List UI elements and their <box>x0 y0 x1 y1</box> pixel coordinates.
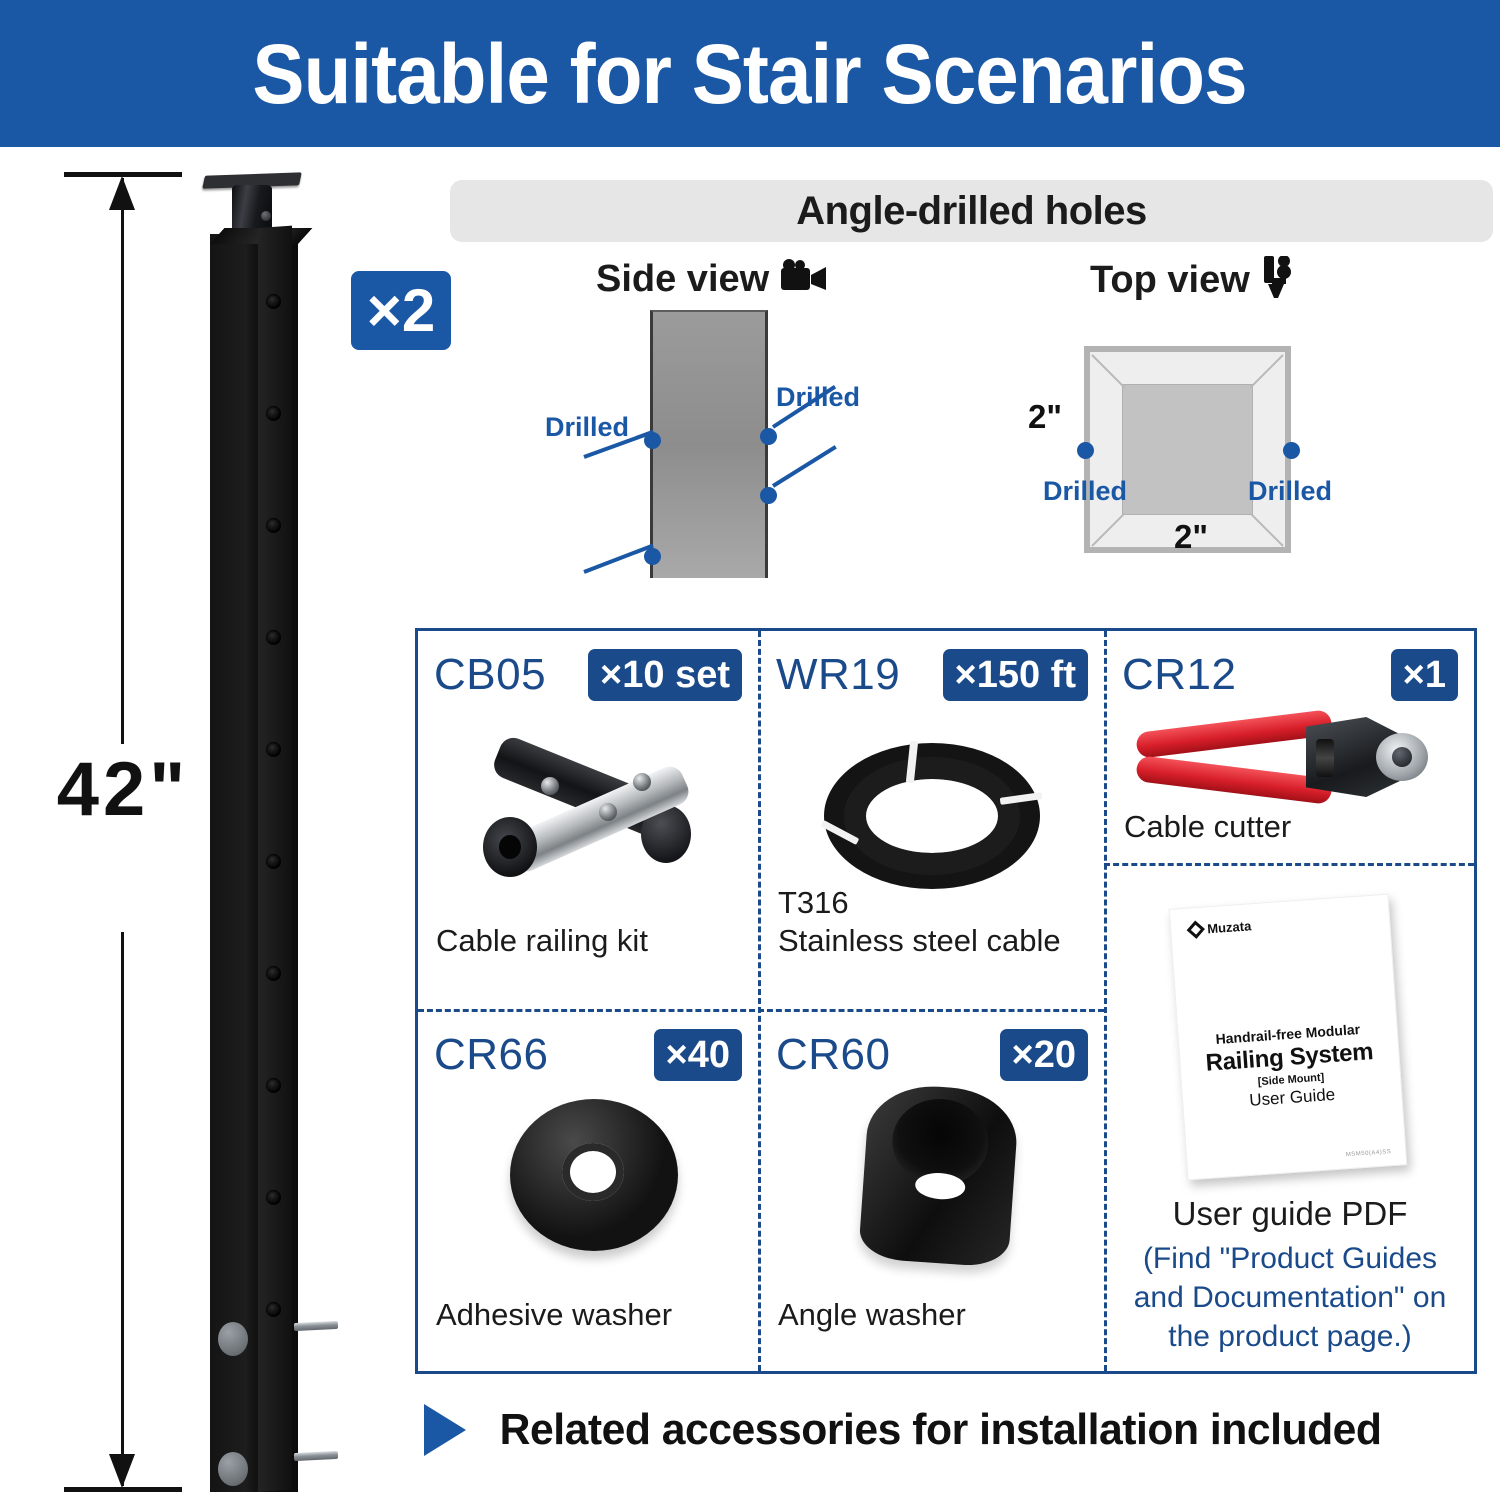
angle-drilled-holes-title: Angle-drilled holes <box>796 189 1147 234</box>
side-view-label: Side view <box>596 258 769 301</box>
user-guide-note: (Find "Product Guides and Documentation"… <box>1106 1239 1474 1356</box>
post-hole <box>266 406 281 421</box>
side-view-label-group: Side view <box>596 258 827 301</box>
swivel-bolt-icon <box>261 211 271 221</box>
drilled-callout: Drilled <box>545 412 629 443</box>
top-view-dimension-horizontal: 2" <box>1174 518 1208 556</box>
accessories-grid: CB05 ×10 set Cable railing kit WR19 ×150… <box>415 628 1477 1374</box>
qty-badge-cr60: ×20 <box>1000 1029 1088 1081</box>
dimension-arrow-down-icon <box>109 1454 135 1488</box>
post-mount-pad <box>218 1452 248 1486</box>
accessory-cell-cb05: CB05 ×10 set Cable railing kit <box>418 631 758 1009</box>
cable-cutter-icon <box>1130 701 1450 821</box>
accessory-cell-wr19: WR19 ×150 ft T316 Stainless steel cable <box>760 631 1104 1009</box>
cable-coil-icon <box>824 743 1040 893</box>
caption-user-guide: User guide PDF <box>1106 1195 1474 1233</box>
hex-socket-icon <box>633 773 651 791</box>
part-code-cr60: CR60 <box>776 1030 891 1080</box>
qty-badge-wr19: ×150 ft <box>943 649 1088 701</box>
post-hole <box>266 1078 281 1093</box>
post-hole <box>266 1190 281 1205</box>
caption-cr66: Adhesive washer <box>418 1297 758 1334</box>
qty-badge-cr12: ×1 <box>1391 649 1458 701</box>
page-title: Suitable for Stair Scenarios <box>253 32 1247 116</box>
muzata-brand-text: Muzata <box>1207 918 1252 936</box>
height-dimension: 42" <box>64 172 194 1492</box>
part-code-wr19: WR19 <box>776 650 900 700</box>
caption-cr60: Angle washer <box>760 1297 1104 1334</box>
post-hole <box>266 966 281 981</box>
caption-cb05: Cable railing kit <box>418 923 758 960</box>
post-quantity-badge: ×2 <box>351 271 451 350</box>
cutter-handle <box>1135 755 1333 805</box>
muzata-logo: Muzata <box>1189 918 1252 937</box>
cr60-header: CR60 ×20 <box>760 1029 1104 1081</box>
part-code-cr66: CR66 <box>434 1030 549 1080</box>
qty-badge-cb05: ×10 set <box>588 649 742 701</box>
side-view-post-diagram <box>650 310 768 578</box>
post-hole <box>266 1302 281 1317</box>
post-mount-pad <box>218 1322 248 1356</box>
cutter-handle <box>1135 709 1333 759</box>
cutter-blade-disc <box>1376 733 1428 781</box>
angle-drilled-holes-banner: Angle-drilled holes <box>450 180 1493 242</box>
drilled-callout: Drilled <box>1043 476 1127 507</box>
accessory-cell-cr66: CR66 ×40 Adhesive washer <box>418 1011 758 1371</box>
caption-wr19-line1: T316 <box>760 885 1104 922</box>
dimension-line-upper <box>121 178 124 768</box>
cb05-header: CB05 ×10 set <box>418 649 758 701</box>
muzata-diamond-icon <box>1187 921 1205 939</box>
user-guide-document: Muzata Handrail-free Modular Railing Sys… <box>1169 894 1407 1181</box>
drill-point-dot <box>760 428 777 445</box>
drill-point-dot <box>1077 442 1094 459</box>
accessory-cell-cr12: CR12 ×1 Cable cutter <box>1106 631 1474 863</box>
post-hole <box>266 854 281 869</box>
top-view-inner-bore <box>1122 384 1253 515</box>
movie-camera-icon <box>781 259 827 300</box>
post-hole <box>266 294 281 309</box>
movie-camera-icon <box>1262 256 1296 305</box>
drill-point-dot <box>760 487 777 504</box>
drilled-callout: Drilled <box>776 382 860 413</box>
post-hole <box>266 742 281 757</box>
drill-point-dot <box>1283 442 1300 459</box>
hex-socket-icon <box>541 777 559 795</box>
angle-washer-icon <box>858 1082 1020 1268</box>
caption-cr12: Cable cutter <box>1106 809 1474 846</box>
coil-inner-ring <box>844 757 1020 875</box>
leader-line <box>772 445 837 488</box>
drilled-callout: Drilled <box>1248 476 1332 507</box>
post-hole <box>266 630 281 645</box>
dimension-cap-bottom <box>64 1487 182 1492</box>
guide-doc-code: MSM50(A4)SS <box>1346 1149 1392 1158</box>
post-hole <box>266 518 281 533</box>
cr12-header: CR12 ×1 <box>1106 649 1474 701</box>
header-banner: Suitable for Stair Scenarios <box>0 0 1500 147</box>
adhesive-washer-icon <box>510 1099 678 1251</box>
post-mount-stud <box>294 1451 338 1461</box>
leader-line <box>583 544 654 574</box>
footer-tagline-text: Related accessories for installation inc… <box>500 1405 1382 1455</box>
cutter-pivot <box>1316 739 1334 777</box>
caption-wr19-line2: Stainless steel cable <box>760 923 1104 960</box>
top-view-label: Top view <box>1090 259 1250 302</box>
accessory-cell-user-guide: Muzata Handrail-free Modular Railing Sys… <box>1106 865 1474 1371</box>
post-mount-stud <box>294 1321 338 1331</box>
wr19-header: WR19 ×150 ft <box>760 649 1104 701</box>
qty-badge-cr66: ×40 <box>654 1029 742 1081</box>
kit-flanged-head <box>483 817 537 877</box>
top-view-label-group: Top view <box>1090 256 1296 305</box>
top-view-dimension-vertical: 2" <box>1028 398 1062 436</box>
accessory-cell-cr60: CR60 ×20 Angle washer <box>760 1011 1104 1371</box>
part-code-cr12: CR12 <box>1122 650 1237 700</box>
hex-socket-icon <box>599 803 617 821</box>
drill-point-dot <box>644 548 661 565</box>
dimension-line-lower <box>121 932 124 1486</box>
part-code-cb05: CB05 <box>434 650 546 700</box>
play-triangle-icon <box>424 1404 466 1456</box>
cr66-header: CR66 ×40 <box>418 1029 758 1081</box>
footer-tagline: Related accessories for installation inc… <box>424 1404 1395 1456</box>
cable-railing-kit-icon <box>473 747 713 897</box>
post-product-image <box>196 174 386 1494</box>
